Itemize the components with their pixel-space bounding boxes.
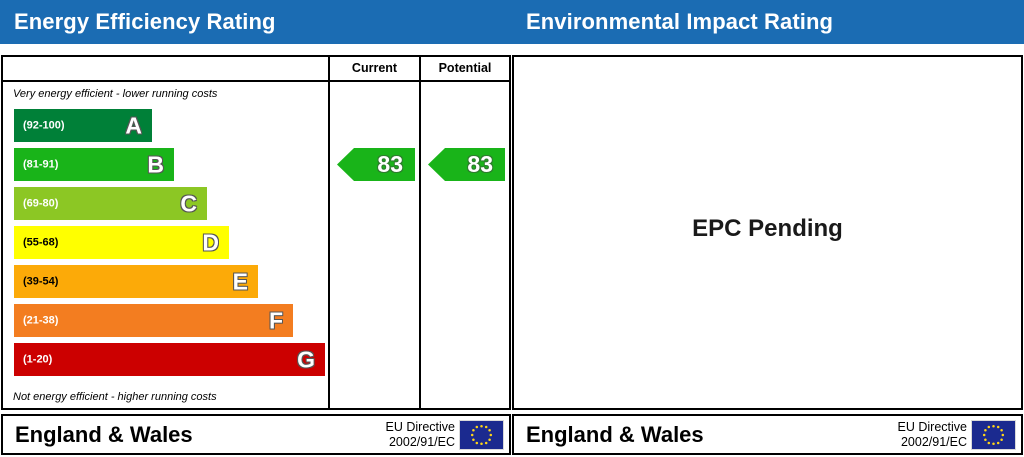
footer-environmental-impact: England & Wales EU Directive 2002/91/EC bbox=[512, 414, 1023, 455]
caption-not-efficient: Not energy efficient - higher running co… bbox=[13, 391, 217, 403]
environmental-impact-title: Environmental Impact Rating bbox=[526, 9, 833, 35]
column-header-potential: Potential bbox=[419, 57, 509, 80]
band-g-range: (1-20) bbox=[23, 354, 52, 365]
potential-rating-arrow: 83 bbox=[428, 148, 505, 181]
caption-very-efficient: Very energy efficient - lower running co… bbox=[13, 88, 217, 100]
band-b-range: (81-91) bbox=[23, 159, 58, 170]
environmental-impact-header-band: Environmental Impact Rating bbox=[512, 0, 1024, 44]
band-b: (81-91) B bbox=[14, 148, 174, 181]
band-g-letter: G bbox=[297, 348, 315, 371]
band-c-letter: C bbox=[180, 192, 197, 215]
column-divider-current bbox=[328, 82, 330, 408]
environmental-impact-panel: EPC Pending bbox=[512, 55, 1023, 410]
column-divider-potential bbox=[419, 82, 421, 408]
band-d: (55-68) D bbox=[14, 226, 229, 259]
band-g: (1-20) G bbox=[14, 343, 325, 376]
energy-efficiency-title: Energy Efficiency Rating bbox=[14, 9, 276, 35]
band-f-letter: F bbox=[269, 309, 283, 332]
band-d-letter: D bbox=[202, 231, 219, 254]
rating-bands-graph: Very energy efficient - lower running co… bbox=[3, 82, 328, 408]
eu-directive-left: EU Directive 2002/91/EC bbox=[386, 420, 455, 450]
band-e: (39-54) E bbox=[14, 265, 258, 298]
footer-region-left: England & Wales bbox=[15, 422, 193, 448]
eu-flag-icon-right bbox=[971, 420, 1016, 450]
epc-pending-message: EPC Pending bbox=[692, 215, 843, 243]
column-header-current: Current bbox=[328, 57, 419, 80]
band-e-range: (39-54) bbox=[23, 276, 58, 287]
band-a: (92-100) A bbox=[14, 109, 152, 142]
energy-efficiency-chart: Current Potential Very energy efficient … bbox=[1, 55, 511, 410]
footer-energy-efficiency: England & Wales EU Directive 2002/91/EC bbox=[1, 414, 511, 455]
current-rating-arrow: 83 bbox=[337, 148, 415, 181]
eu-directive-left-line2: 2002/91/EC bbox=[386, 435, 455, 450]
band-f-range: (21-38) bbox=[23, 315, 58, 326]
band-b-letter: B bbox=[147, 153, 164, 176]
eu-directive-right-line2: 2002/91/EC bbox=[898, 435, 967, 450]
band-d-range: (55-68) bbox=[23, 237, 58, 248]
potential-rating-value: 83 bbox=[467, 153, 493, 176]
chart-column-header-row: Current Potential bbox=[3, 57, 509, 82]
eu-flag-icon-left bbox=[459, 420, 504, 450]
band-a-letter: A bbox=[125, 114, 142, 137]
eu-directive-left-line1: EU Directive bbox=[386, 420, 455, 435]
band-f: (21-38) F bbox=[14, 304, 293, 337]
footer-region-right: England & Wales bbox=[526, 422, 704, 448]
band-e-letter: E bbox=[233, 270, 248, 293]
eu-directive-right: EU Directive 2002/91/EC bbox=[898, 420, 967, 450]
current-rating-value: 83 bbox=[377, 153, 403, 176]
eu-directive-right-line1: EU Directive bbox=[898, 420, 967, 435]
band-c: (69-80) C bbox=[14, 187, 207, 220]
band-a-range: (92-100) bbox=[23, 120, 65, 131]
energy-efficiency-header-band: Energy Efficiency Rating bbox=[0, 0, 512, 44]
band-c-range: (69-80) bbox=[23, 198, 58, 209]
